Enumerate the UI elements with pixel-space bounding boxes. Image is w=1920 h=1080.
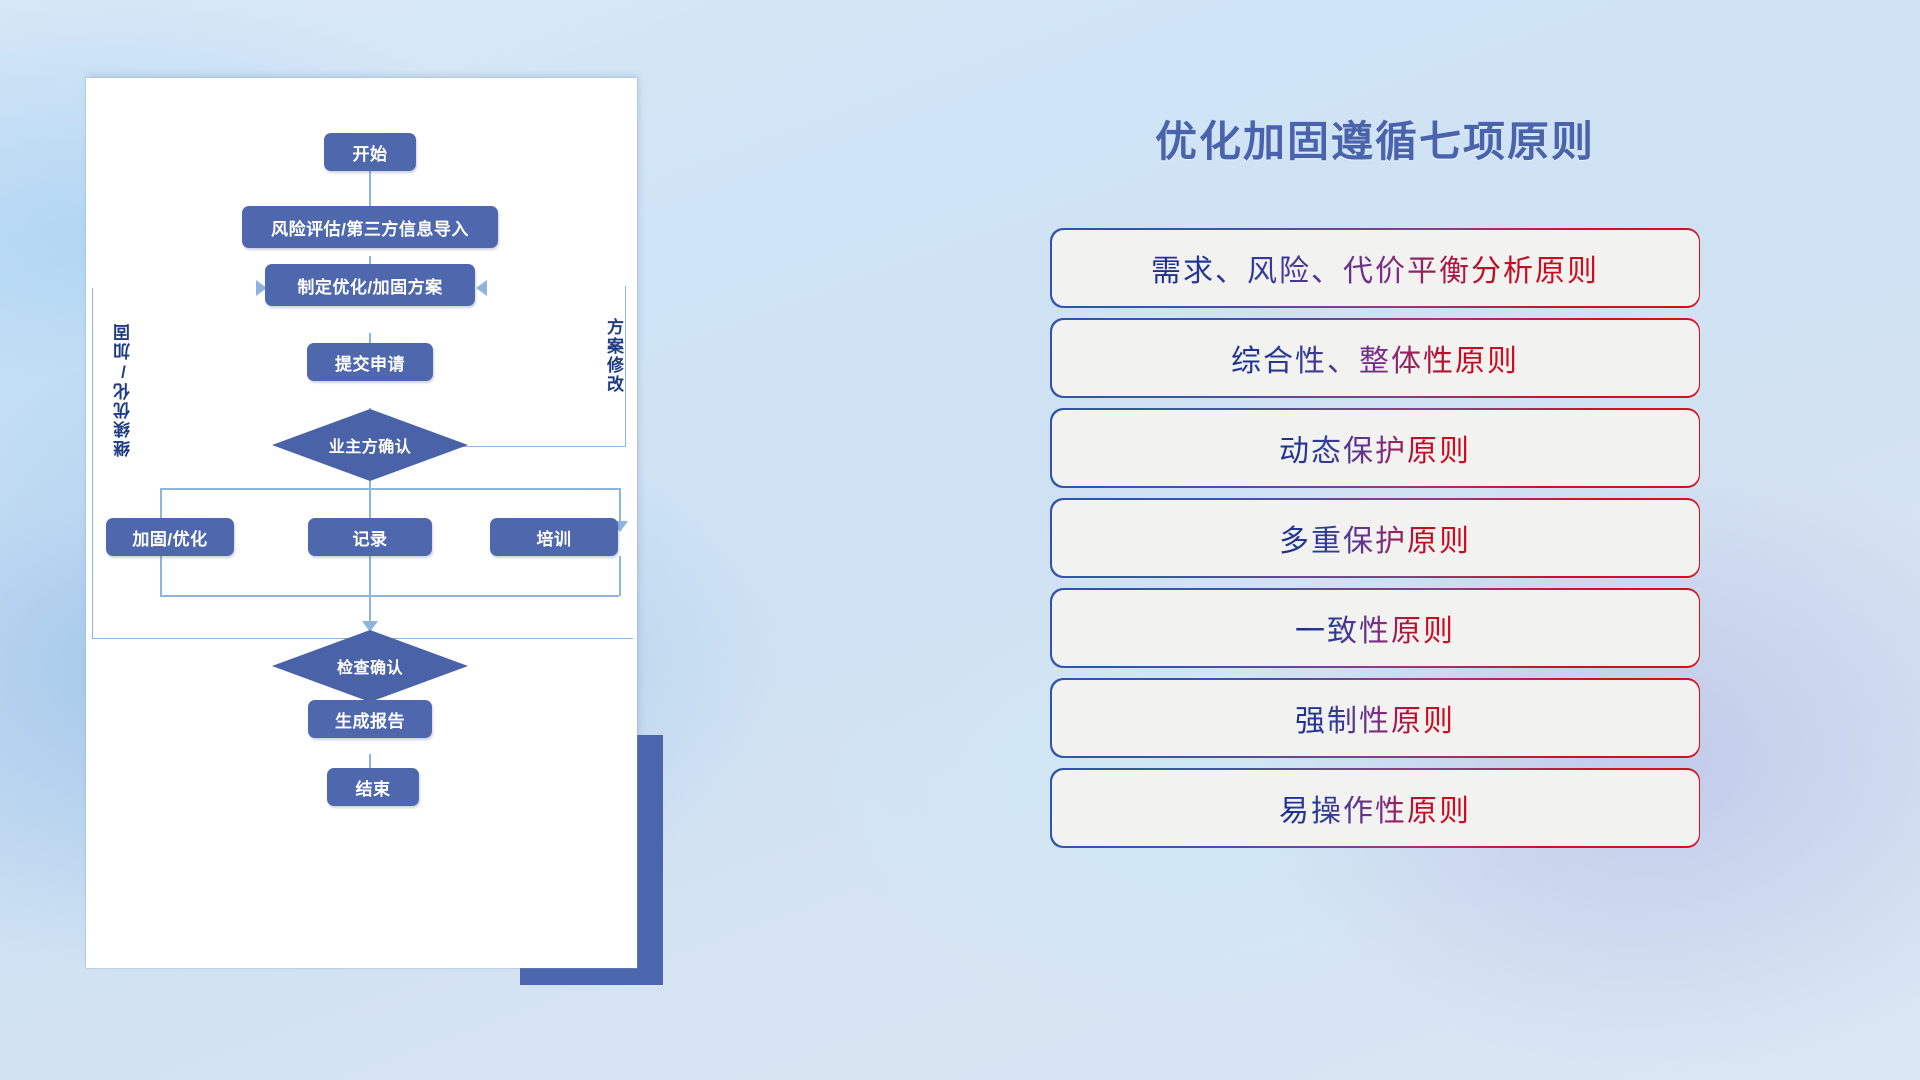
principle-item-2[interactable]: 综合性、整体性原则 — [1052, 320, 1699, 396]
principle-item-1[interactable]: 需求、风险、代价平衡分析原则 — [1052, 230, 1699, 306]
principle-label: 多重保护原则 — [1279, 516, 1471, 560]
flow-node-risk-label: 风险评估/第三方信息导入 — [271, 215, 469, 240]
principles-panel: 优化加固遵循七项原则 需求、风险、代价平衡分析原则 综合性、整体性原则 动态保护… — [830, 0, 1920, 1080]
connector-merge-check — [369, 556, 371, 628]
edge-label-right: 方案修改 — [601, 318, 626, 394]
card-accent-bar-vertical — [637, 735, 663, 985]
flowchart-stage: 继续优化/加固 方案修改 — [0, 0, 820, 1080]
principle-item-7[interactable]: 易操作性原则 — [1052, 770, 1699, 846]
principle-item-3[interactable]: 动态保护原则 — [1052, 410, 1699, 486]
principle-item-4[interactable]: 多重保护原则 — [1052, 500, 1699, 576]
flow-node-reinforce-label: 加固/优化 — [132, 525, 207, 550]
principle-item-5[interactable]: 一致性原则 — [1052, 590, 1699, 666]
flow-node-owner-confirm[interactable]: 业主方确认 — [272, 409, 468, 481]
flow-node-start[interactable]: 开始 — [324, 133, 416, 171]
principle-label: 易操作性原则 — [1279, 786, 1471, 830]
principle-label: 综合性、整体性原则 — [1231, 336, 1519, 380]
flow-node-training-label: 培训 — [537, 525, 572, 550]
flow-node-check-confirm[interactable]: 检查确认 — [272, 630, 468, 702]
flow-node-report-label: 生成报告 — [335, 707, 405, 732]
arrowhead-right-loop-into-plan — [476, 280, 487, 296]
flow-node-reinforce[interactable]: 加固/优化 — [106, 518, 234, 556]
flow-node-training[interactable]: 培训 — [490, 518, 618, 556]
principle-item-6[interactable]: 强制性原则 — [1052, 680, 1699, 756]
flow-node-submit[interactable]: 提交申请 — [307, 343, 433, 381]
principle-label: 动态保护原则 — [1279, 426, 1471, 470]
flow-node-record-label: 记录 — [353, 525, 388, 550]
flow-node-risk[interactable]: 风险评估/第三方信息导入 — [242, 206, 498, 248]
connector-merge-right — [619, 556, 621, 596]
flow-node-plan[interactable]: 制定优化/加固方案 — [265, 264, 475, 306]
flow-node-check-confirm-label: 检查确认 — [272, 630, 468, 702]
flow-node-report[interactable]: 生成报告 — [308, 700, 432, 738]
flow-node-plan-label: 制定优化/加固方案 — [297, 273, 442, 298]
connector-branch-bus — [160, 488, 619, 490]
connector-merge-left — [160, 556, 162, 596]
flow-node-end-label: 结束 — [356, 775, 391, 800]
flow-node-owner-confirm-label: 业主方确认 — [272, 409, 468, 481]
principle-label: 一致性原则 — [1295, 606, 1455, 650]
flow-node-start-label: 开始 — [353, 140, 388, 165]
flow-node-record[interactable]: 记录 — [308, 518, 432, 556]
flow-node-submit-label: 提交申请 — [335, 350, 405, 375]
flow-node-end[interactable]: 结束 — [327, 768, 419, 806]
principle-label: 需求、风险、代价平衡分析原则 — [1151, 246, 1599, 290]
flowchart-card: 继续优化/加固 方案修改 — [86, 78, 637, 968]
principle-list: 需求、风险、代价平衡分析原则 综合性、整体性原则 动态保护原则 多重保护原则 一… — [830, 230, 1920, 860]
edge-label-left: 继续优化/加固 — [111, 322, 136, 457]
principle-label: 强制性原则 — [1295, 696, 1455, 740]
panel-title: 优化加固遵循七项原则 — [830, 108, 1920, 169]
connector-merge-bus — [160, 595, 619, 597]
